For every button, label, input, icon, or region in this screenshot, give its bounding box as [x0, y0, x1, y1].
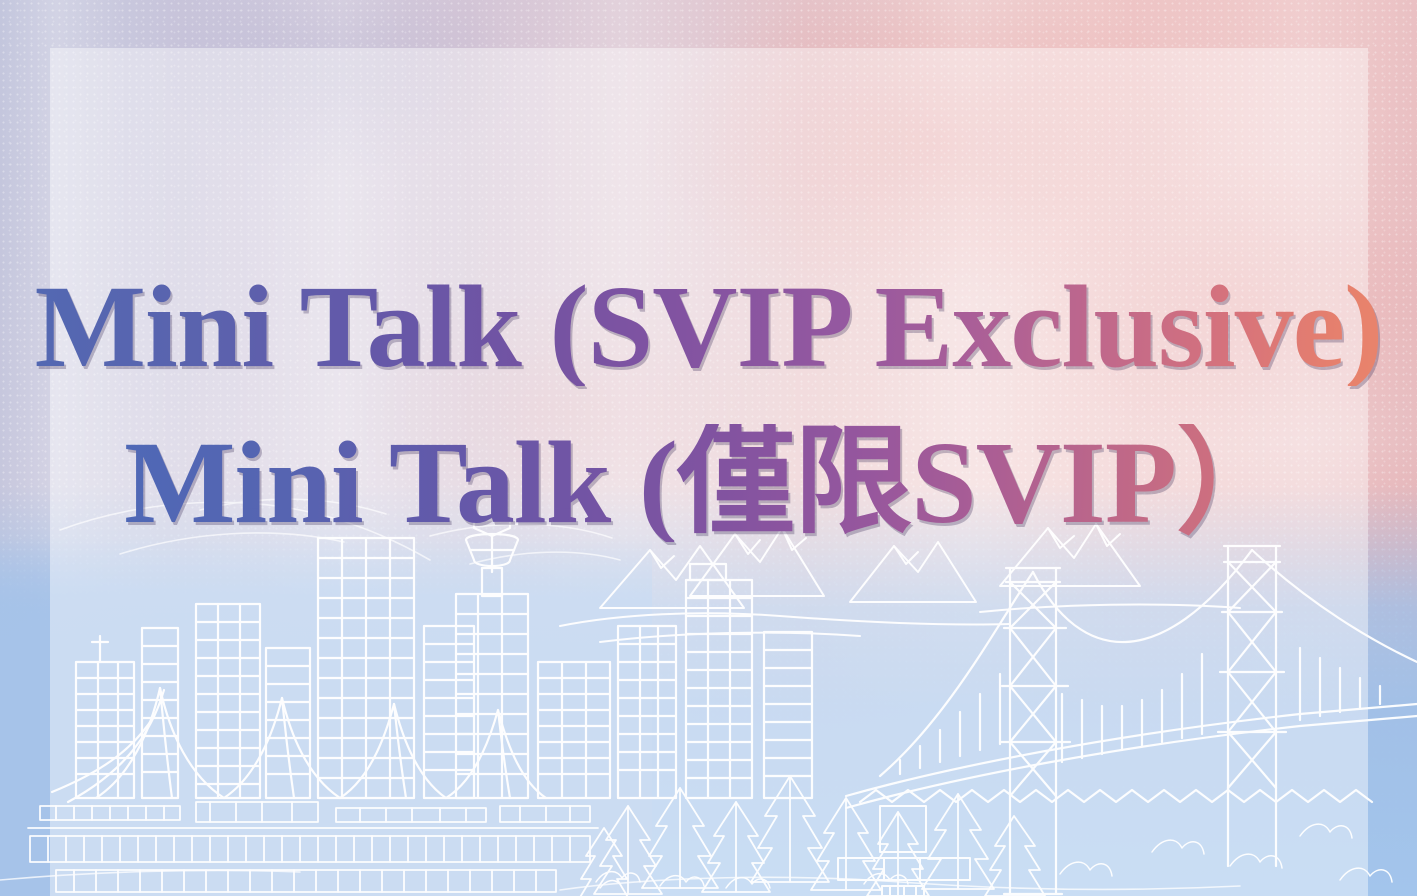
harbour-centre-tower	[456, 520, 528, 798]
waterfront-buildings	[28, 802, 598, 892]
canada-place-sails	[52, 688, 546, 802]
promo-banner: Mini Talk (SVIP Exclusive) Mini Talk (僅限…	[0, 0, 1417, 896]
shoreline	[0, 870, 1240, 890]
vancouver-skyline-illustration	[0, 476, 1417, 896]
banner-title-english: Mini Talk (SVIP Exclusive)	[35, 268, 1383, 386]
lions-gate-bridge	[846, 546, 1417, 894]
cloud-wisps	[60, 499, 620, 564]
mountain-range-icon	[560, 524, 1240, 642]
